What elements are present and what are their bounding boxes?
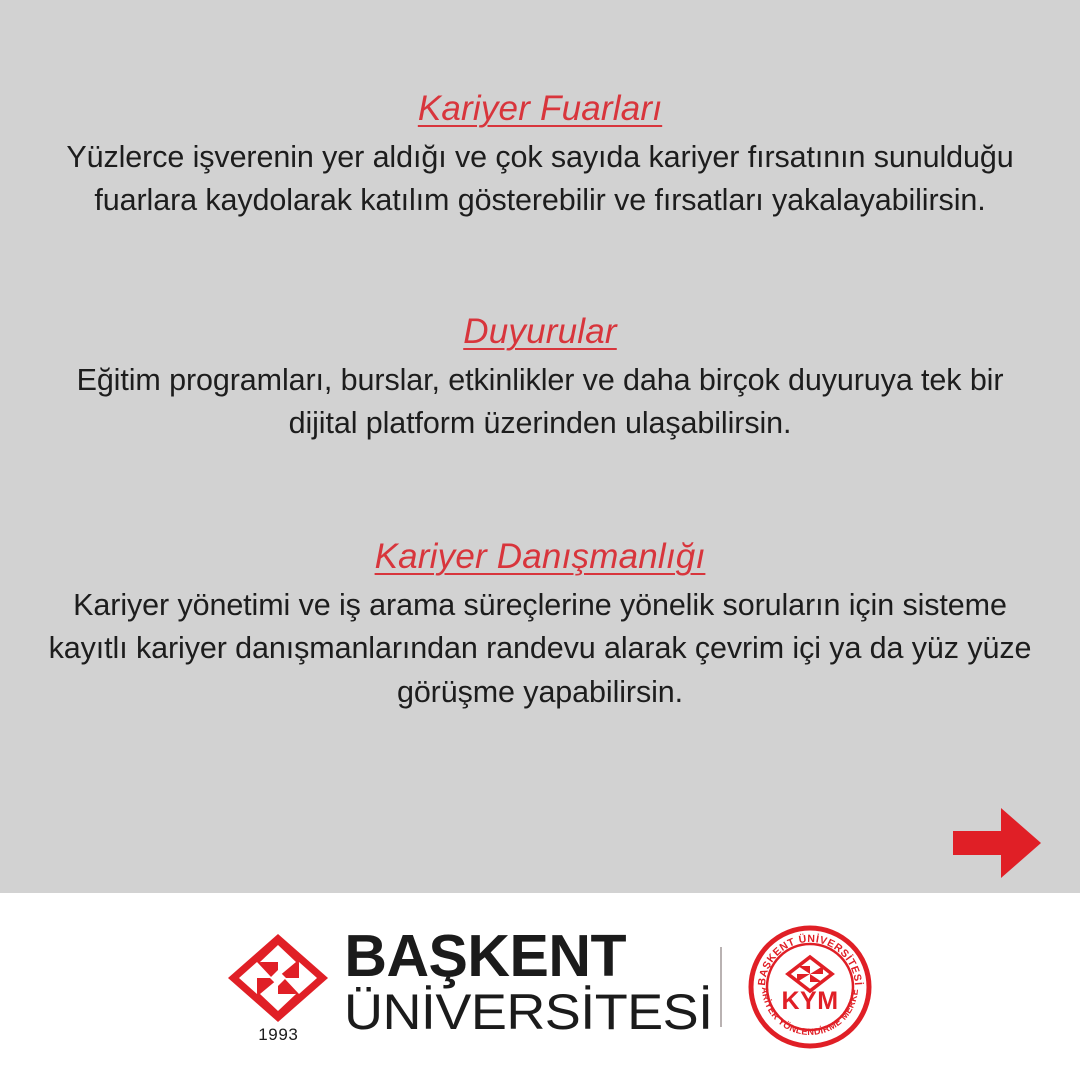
- footer-bar: 1993 BAŞKENT ÜNİVERSİTESİ BA: [0, 893, 1080, 1080]
- section-body-duyurular: Eğitim programları, burslar, etkinlikler…: [30, 359, 1050, 446]
- section-kariyer-fuarlari: Kariyer Fuarları Yüzlerce işverenin yer …: [30, 88, 1050, 223]
- arrow-right-icon[interactable]: [953, 808, 1041, 878]
- footer-divider: [720, 947, 722, 1027]
- section-heading-kariyer-fuarlari: Kariyer Fuarları: [30, 88, 1050, 130]
- next-slide-button[interactable]: [953, 808, 1041, 878]
- section-duyurular: Duyurular Eğitim programları, burslar, e…: [30, 311, 1050, 446]
- section-kariyer-danismanligi: Kariyer Danışmanlığı Kariyer yönetimi ve…: [30, 536, 1050, 714]
- section-heading-duyurular: Duyurular: [30, 311, 1050, 353]
- slide-canvas: Kariyer Fuarları Yüzlerce işverenin yer …: [0, 0, 1080, 1080]
- baskent-diamond-emblem-icon: [226, 932, 330, 1024]
- kym-seal-center-text: KYM: [781, 987, 838, 1015]
- wordmark-line-baskent: BAŞKENT: [344, 928, 626, 985]
- section-heading-kariyer-danismanligi: Kariyer Danışmanlığı: [30, 536, 1050, 578]
- content-panel: Kariyer Fuarları Yüzlerce işverenin yer …: [0, 0, 1080, 893]
- section-body-kariyer-fuarlari: Yüzlerce işverenin yer aldığı ve çok say…: [30, 136, 1050, 223]
- university-emblem-block: 1993: [220, 928, 336, 1045]
- kym-seal-icon: BAŞKENT ÜNİVERSİTESİ KARİYER YÖNLENDİRME…: [748, 925, 872, 1049]
- emblem-founding-year: 1993: [258, 1025, 298, 1045]
- section-body-kariyer-danismanligi: Kariyer yönetimi ve iş arama süreçlerine…: [30, 584, 1050, 714]
- wordmark-line-universitesi: ÜNİVERSİTESİ: [344, 987, 713, 1037]
- university-wordmark: BAŞKENT ÜNİVERSİTESİ: [344, 928, 685, 1045]
- footer-logo-group: 1993 BAŞKENT ÜNİVERSİTESİ BA: [220, 925, 871, 1049]
